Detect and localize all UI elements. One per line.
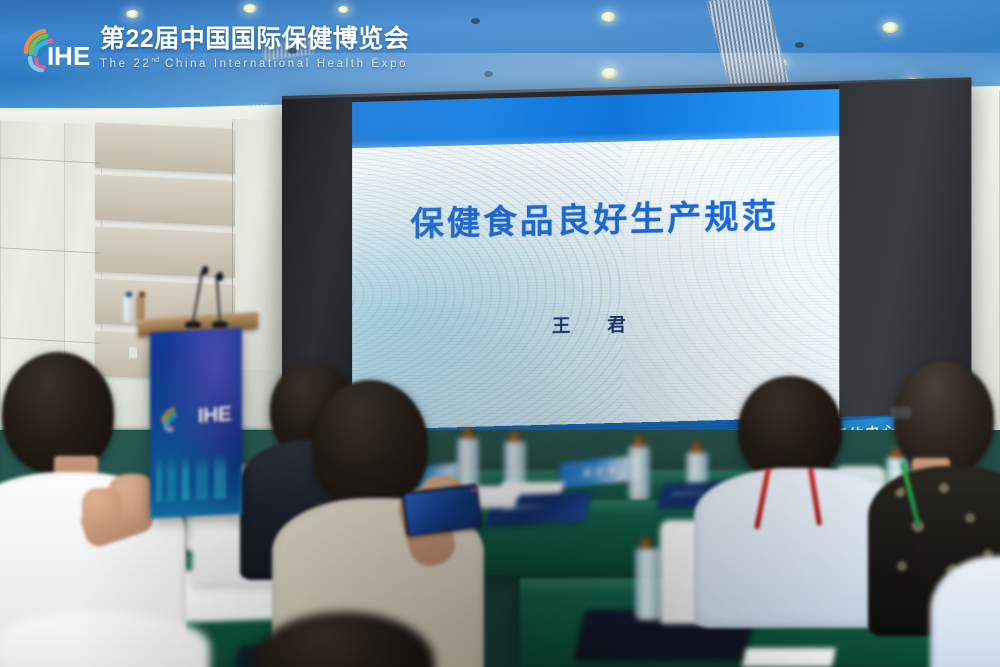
downlight-5 — [601, 68, 618, 79]
ceiling-speaker-2 — [471, 18, 480, 24]
front-table-paper-3 — [742, 648, 836, 667]
acoustic-panel-2 — [95, 174, 235, 226]
podium-ihe-logo: IHE — [161, 402, 232, 433]
downlight-6 — [775, 59, 787, 67]
podium-water-bottle-1 — [123, 296, 132, 322]
podium-logo-text: IHE — [198, 403, 232, 429]
acoustic-panel-3 — [95, 226, 235, 278]
foreground-shoulder-left — [0, 612, 200, 667]
event-title-en: The 22nd China International Health Expo — [100, 57, 409, 70]
head-table-bottle-3 — [628, 446, 650, 502]
podium-microphone-2 — [212, 272, 230, 328]
attendee-mid-right-head — [738, 376, 842, 482]
ceiling-speaker-4 — [795, 42, 804, 48]
attendee-far-right — [930, 556, 1000, 667]
downlight-11 — [338, 6, 349, 13]
svg-text:H: H — [54, 41, 73, 71]
acoustic-panel-1 — [95, 122, 235, 174]
ihe-logo-icon: I H E — [20, 22, 90, 74]
microphone-head-2 — [217, 272, 224, 281]
event-branding: I H E 第22届中国国际保健博览会 The 22nd China Inter… — [20, 22, 409, 74]
podium-water-bottle-2 — [136, 296, 145, 322]
foreground-head-left — [254, 612, 434, 667]
conference-room-photo: I H E 第22届中国国际保健博览会 The 22nd China Inter… — [0, 0, 1000, 667]
attendee-mid-right — [700, 376, 890, 606]
downlight-4 — [882, 22, 899, 33]
foreground-shoulder-shape — [0, 612, 210, 667]
microphone-stem-1 — [192, 272, 203, 324]
microphone-stem-2 — [216, 275, 221, 323]
ceiling-speaker-3 — [484, 71, 493, 77]
event-title-cn: 第22届中国国际保健博览会 — [100, 27, 409, 52]
attendee-far-right-body — [930, 556, 1000, 667]
slide-title: 保健食品良好生产规范 — [350, 187, 841, 246]
downlight-3 — [601, 12, 616, 22]
podium-logo-icon — [161, 404, 195, 432]
podium-branded-panel: IHE — [150, 328, 242, 519]
phone-screen — [403, 485, 480, 535]
attendee-front-left-hand-2 — [82, 488, 122, 524]
speaker-nameplate-text: 栾志强 — [583, 463, 619, 480]
podium-microphone-1 — [185, 268, 203, 328]
downlight-1 — [126, 10, 139, 18]
svg-text:E: E — [73, 41, 90, 71]
event-title-block: 第22届中国国际保健博览会 The 22nd China Internation… — [100, 25, 409, 70]
front-table-bottle-1 — [635, 548, 663, 620]
foreground-head-left-hair — [254, 612, 434, 667]
downlight-2 — [243, 4, 257, 13]
attendee-phone[interactable] — [402, 484, 483, 537]
speaker-podium: IHE — [150, 316, 242, 516]
podium-skyline-buildings — [156, 452, 236, 502]
attendee-right-glasses — [890, 406, 912, 419]
